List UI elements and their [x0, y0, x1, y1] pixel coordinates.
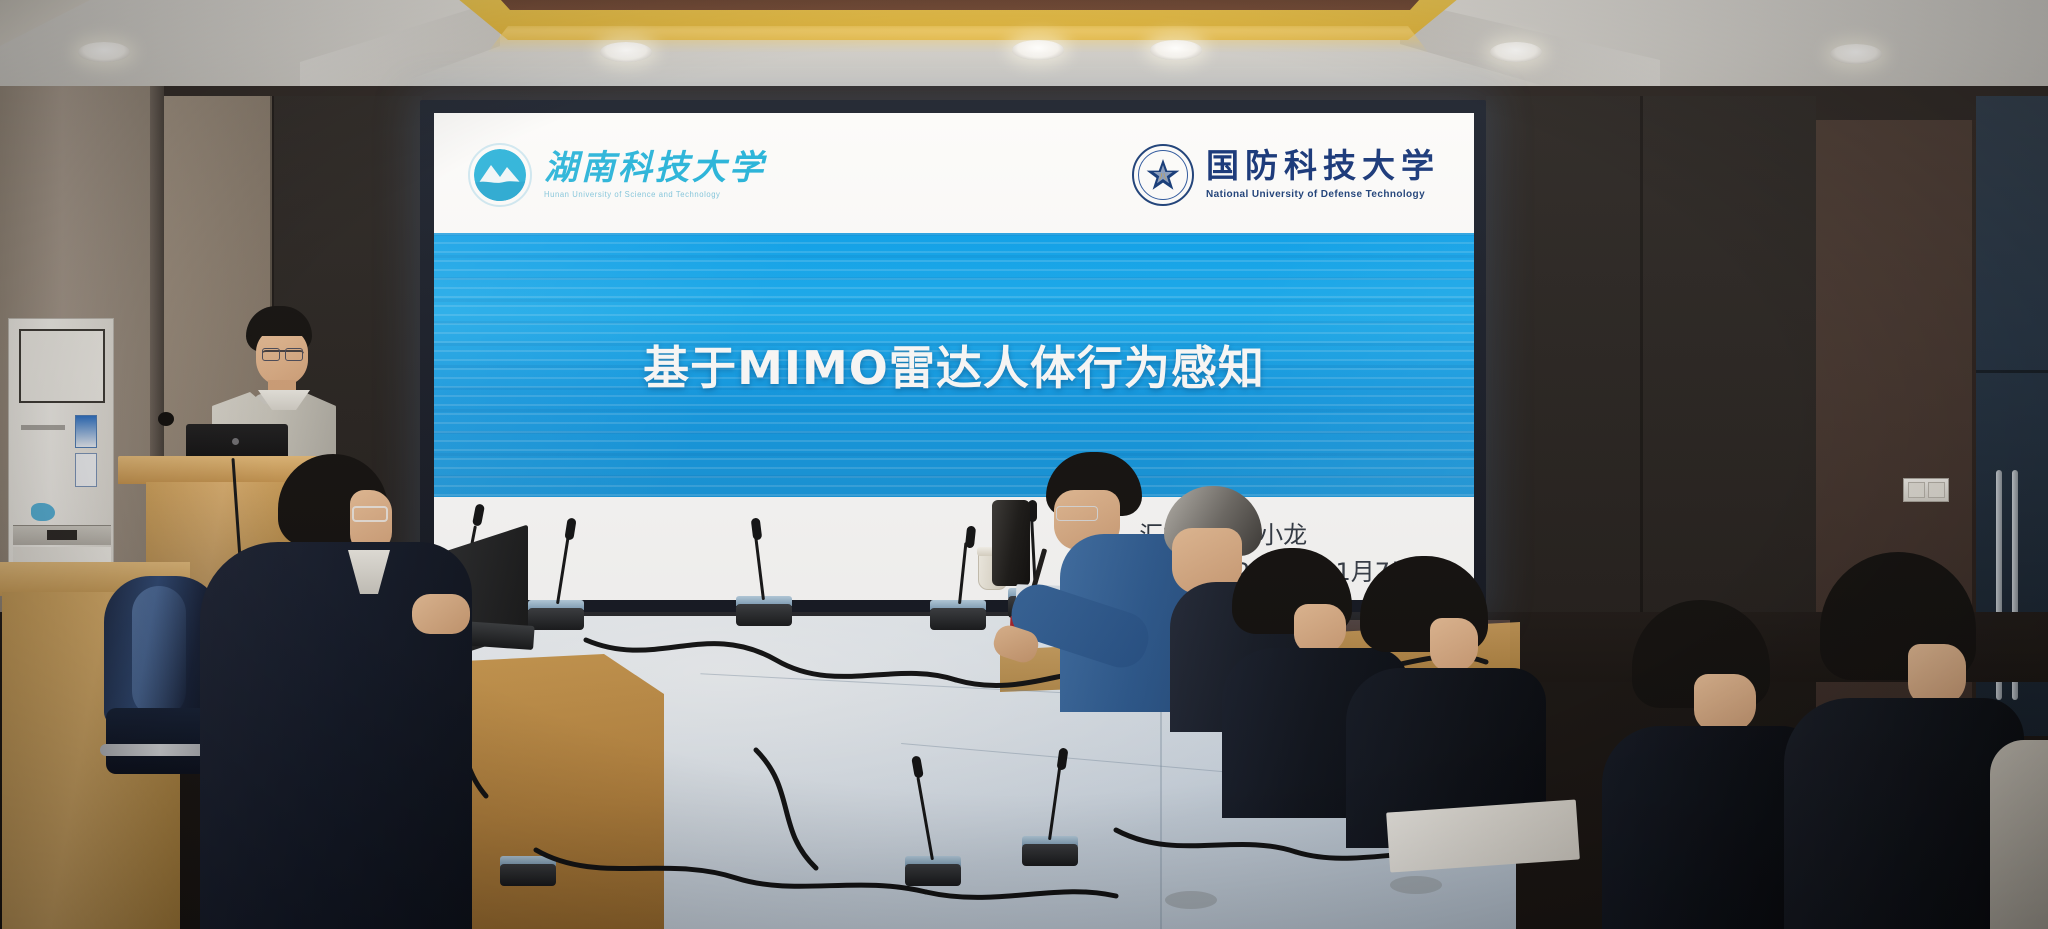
ac-info-label — [75, 453, 97, 487]
ac-grille-icon — [19, 329, 105, 403]
conference-room-photo: 湖南科技大学 Hunan University of Science and T… — [0, 0, 2048, 929]
attendee-glasses-icon — [352, 506, 388, 522]
chair-highlight — [132, 586, 186, 718]
downlight-icon — [1150, 40, 1202, 60]
logo-nudt-name-en: National University of Defense Technolog… — [1206, 190, 1440, 200]
attendee-right-edge-collar — [1990, 740, 2048, 929]
attendee-face — [1908, 644, 1966, 706]
logo-hunan-ust: 湖南科技大学 Hunan University of Science and T… — [468, 143, 766, 207]
ac-energy-label — [75, 415, 97, 448]
slide-logo-row: 湖南科技大学 Hunan University of Science and T… — [434, 127, 1474, 223]
attendee-far-right-2 — [1800, 552, 2000, 929]
presenter-glasses-lens — [285, 348, 303, 361]
switch-rocker-icon[interactable] — [1908, 482, 1925, 498]
wall-sensor-icon — [158, 412, 174, 426]
ac-sticker — [31, 503, 55, 521]
logo-hunan-name-en: Hunan University of Science and Technolo… — [544, 191, 757, 199]
attendee-left-foreground — [200, 454, 480, 929]
cove-light-glow — [418, 26, 1498, 52]
attendee-face — [1294, 604, 1346, 654]
air-conditioner[interactable] — [8, 318, 114, 578]
downlight-icon — [1012, 40, 1064, 60]
star-seal-icon: 八 — [1132, 144, 1194, 206]
door-frame-seam — [1976, 370, 2048, 373]
attendee-hand — [412, 594, 470, 634]
switch-rocker-icon[interactable] — [1928, 482, 1945, 498]
presenter-hair-fringe — [248, 312, 308, 336]
attendee-right-front-2 — [1360, 556, 1540, 836]
slide-title-band: 基于MIMO雷达人体行为感知 — [434, 233, 1474, 497]
presenter-glasses-lens — [262, 348, 280, 361]
downlight-icon — [1490, 42, 1542, 62]
ac-display — [47, 530, 77, 540]
svg-text:八: 八 — [1159, 172, 1167, 181]
downlight-icon — [1830, 44, 1882, 64]
attendee-face — [1430, 618, 1478, 672]
thermos-bottle[interactable] — [992, 500, 1030, 586]
laptop-logo-icon — [232, 438, 239, 445]
logo-nudt-name-cn: 国防科技大学 — [1206, 151, 1440, 184]
table-document[interactable] — [1386, 799, 1580, 872]
downlight-icon — [600, 42, 652, 62]
attendee-jacket — [1784, 698, 2024, 929]
mountain-circle-icon — [468, 143, 532, 207]
logo-nudt: 八 国防科技大学 National University of Defense … — [1132, 144, 1440, 206]
logo-hunan-name-cn: 湖南科技大学 — [544, 152, 766, 186]
slide-title: 基于MIMO雷达人体行为感知 — [434, 332, 1474, 398]
attendee-glasses-icon — [1056, 506, 1098, 521]
attendee-face — [1694, 674, 1756, 732]
downlight-icon — [78, 42, 130, 62]
attendee-light-jacket — [1990, 740, 2048, 929]
ceiling-cove-recess — [470, 0, 1450, 10]
panel-seam — [1640, 96, 1643, 656]
ac-brand-mark — [21, 425, 65, 430]
